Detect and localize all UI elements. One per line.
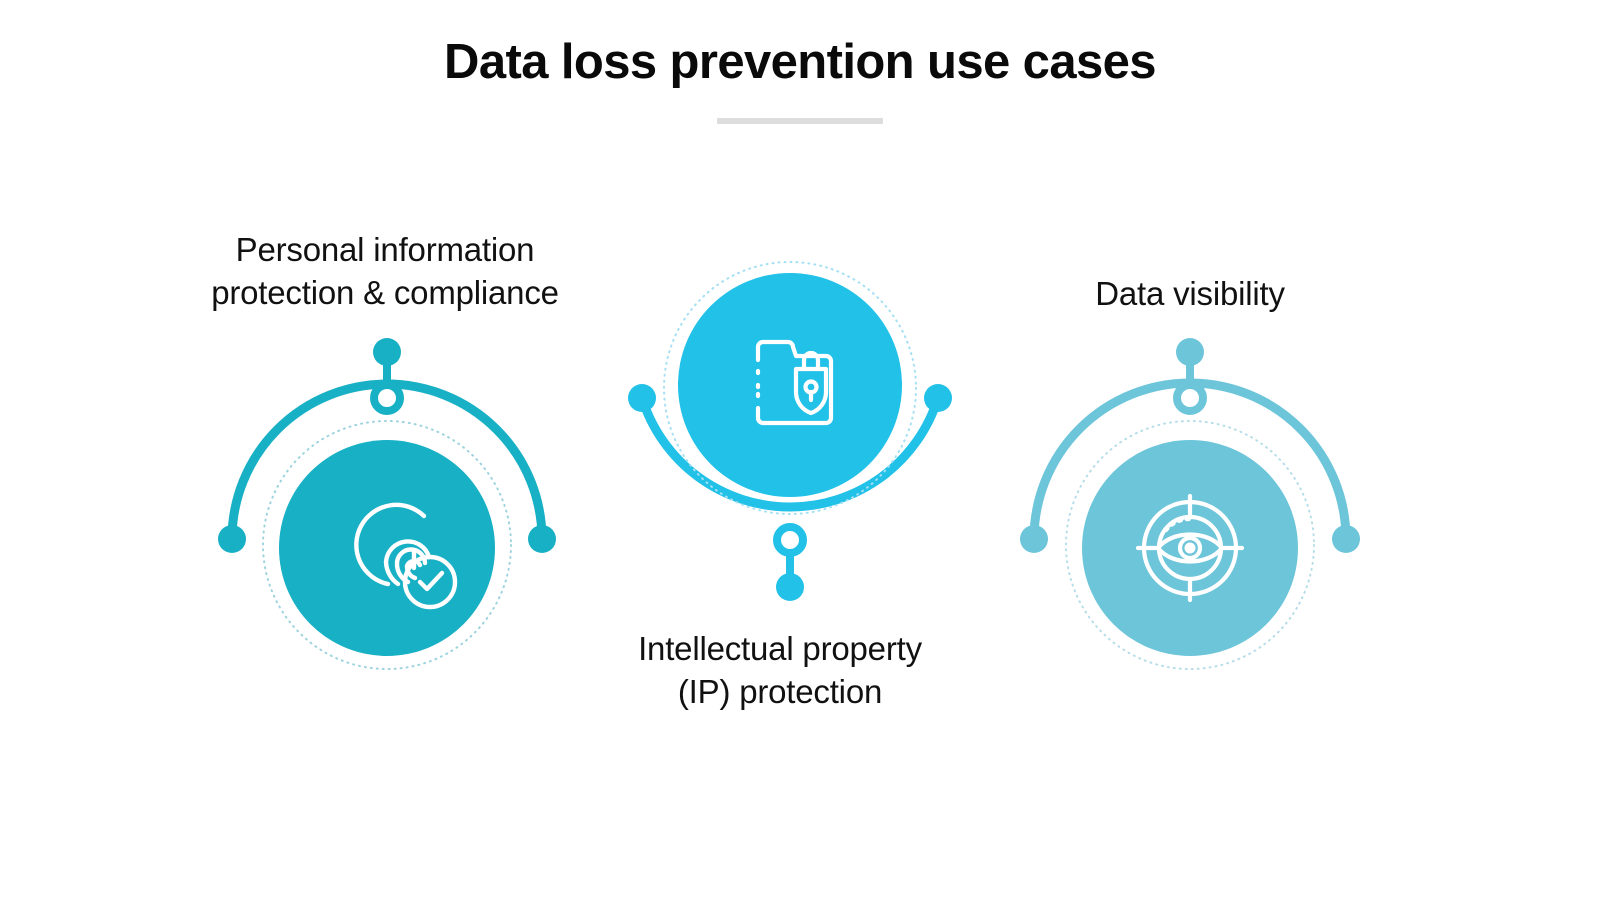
node-circle [678, 273, 902, 497]
title-divider [717, 118, 883, 124]
node-intellectual-property[interactable] [600, 240, 980, 620]
connector-ring [777, 527, 803, 553]
node-label-personal-information: Personal information protection & compli… [125, 228, 645, 314]
arc-end-dot-right [924, 384, 952, 412]
connector-top-dot [1176, 338, 1204, 366]
connector-ring [374, 385, 400, 411]
node-data-visibility[interactable] [1000, 330, 1380, 690]
node-label-intellectual-property: Intellectual property (IP) protection [520, 627, 1040, 713]
node-circle [279, 440, 495, 656]
arc-end-dot-left [1020, 525, 1048, 553]
arc-end-dot-right [1332, 525, 1360, 553]
node-label-data-visibility: Data visibility [930, 272, 1450, 315]
connector-ring [1177, 385, 1203, 411]
connector-top-dot [373, 338, 401, 366]
node-intellectual-property-graphic [600, 240, 980, 620]
node-data-visibility-graphic [1000, 330, 1380, 690]
connector-bottom-dot [776, 573, 804, 601]
title-block: Data loss prevention use cases [0, 36, 1600, 124]
arc-end-dot-right [528, 525, 556, 553]
arc-end-dot-left [218, 525, 246, 553]
arc-end-dot-left [628, 384, 656, 412]
page-title: Data loss prevention use cases [0, 36, 1600, 90]
